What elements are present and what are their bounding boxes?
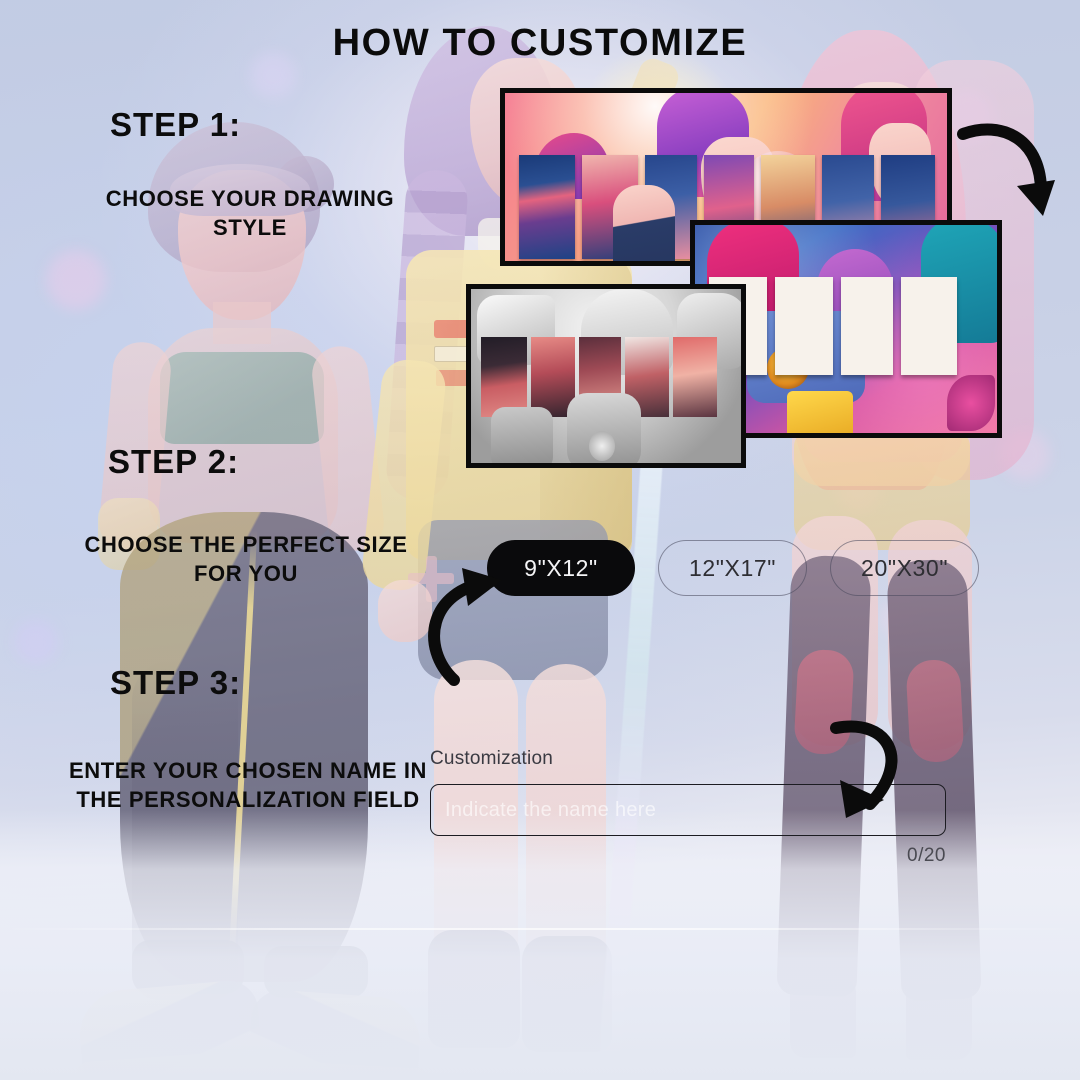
page-title: HOW TO CUSTOMIZE	[0, 22, 1080, 65]
step-3-heading: STEP 3:	[110, 664, 241, 702]
size-selector: 9"X12" 12"X17" 20"X30"	[487, 540, 979, 596]
size-option-12x17[interactable]: 12"X17"	[658, 540, 807, 596]
style-preview-greyscale-manga[interactable]	[466, 284, 746, 468]
arrow-to-customization-field	[818, 712, 943, 835]
step-1-heading: STEP 1:	[110, 106, 241, 144]
size-option-20x30[interactable]: 20"X30"	[830, 540, 979, 596]
step-2-body: CHOOSE THE PERFECT SIZE FOR YOU	[68, 530, 424, 588]
step-1-body: CHOOSE YOUR DRAWING STYLE	[100, 184, 400, 242]
step-3-body: ENTER YOUR CHOSEN NAME IN THE PERSONALIZ…	[68, 756, 428, 814]
arrow-to-size-selector	[418, 562, 533, 692]
style-preview-letters	[709, 277, 957, 375]
character-counter: 0/20	[430, 845, 946, 867]
step-2-heading: STEP 2:	[108, 443, 239, 481]
floor-highlight-line	[0, 928, 1080, 930]
